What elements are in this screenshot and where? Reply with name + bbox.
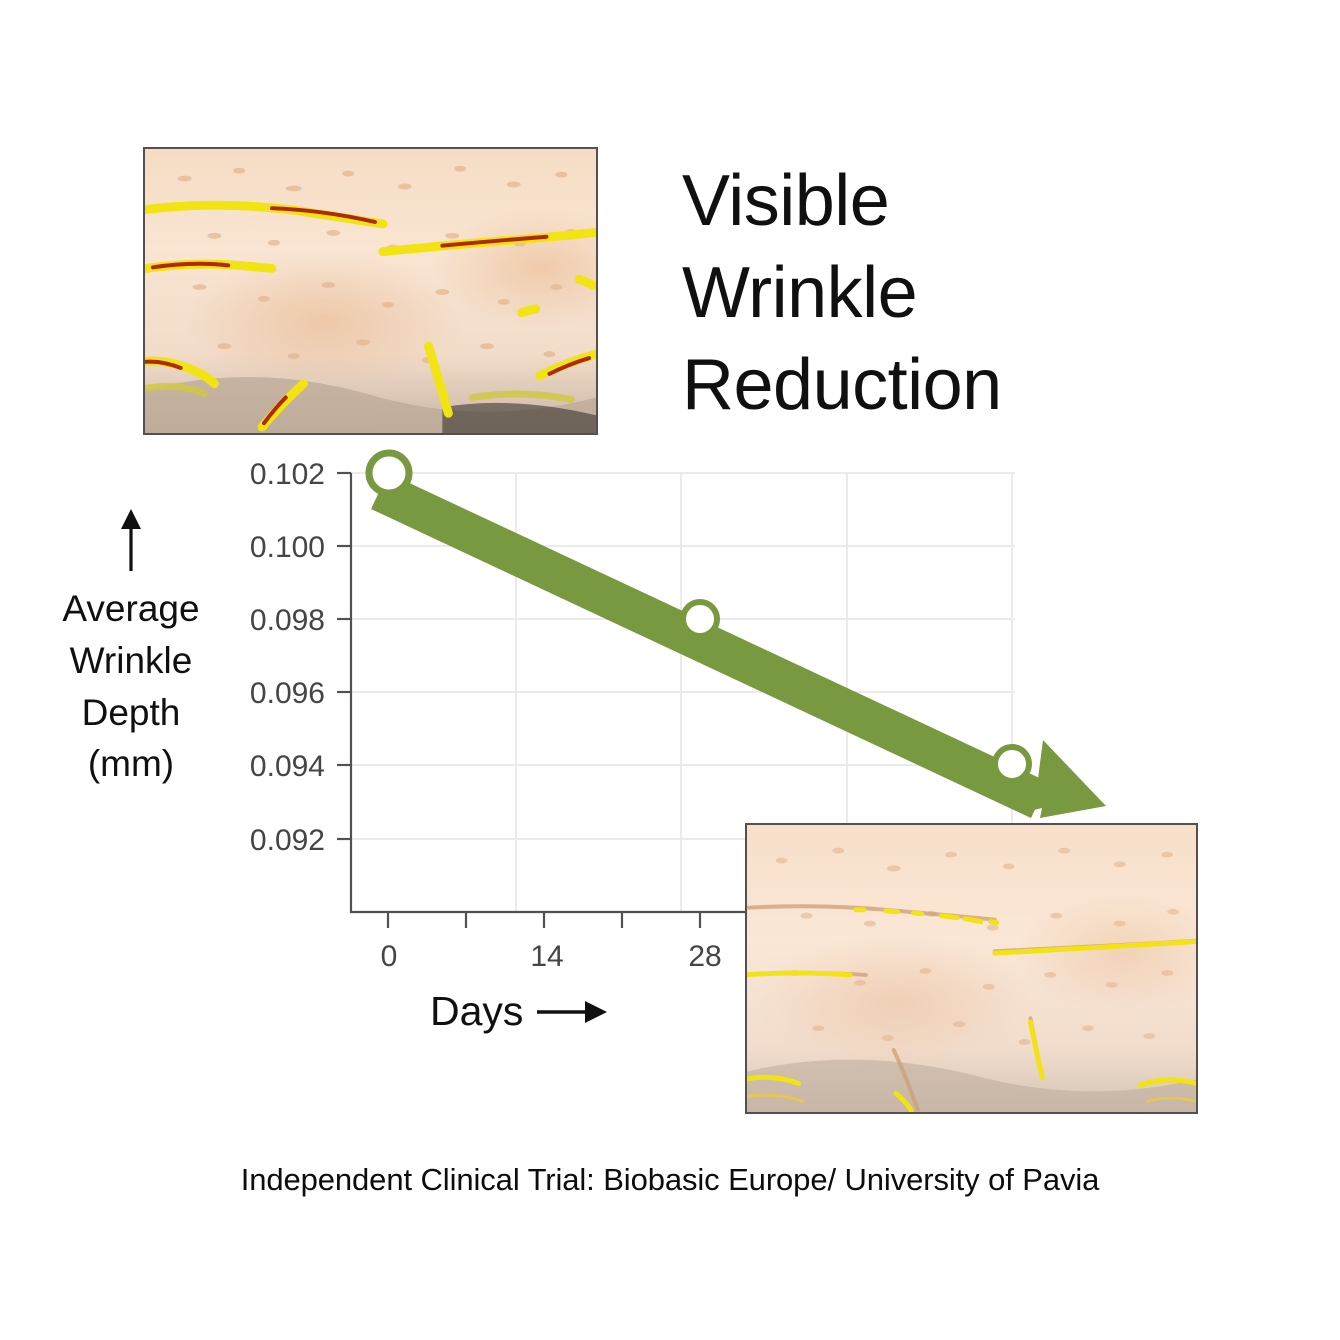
y-tick-0094: 0.094	[250, 750, 325, 783]
y-tick-0092: 0.092	[250, 824, 325, 857]
x-tick-28: 28	[688, 940, 721, 973]
x-tick-0: 0	[381, 940, 398, 973]
x-axis-label: Days	[430, 988, 523, 1035]
study-source-caption: Independent Clinical Trial: Biobasic Eur…	[0, 1162, 1340, 1198]
data-point-day-14	[683, 602, 717, 636]
y-axis-tick-labels: 0.102 0.100 0.098 0.096 0.094 0.092	[250, 458, 325, 857]
y-tick-0102: 0.102	[250, 458, 325, 491]
y-axis-label: Average Wrinkle Depth (mm)	[20, 583, 242, 790]
data-point-day-0	[369, 453, 409, 493]
wrinkle-depth-trend-arrow	[369, 453, 1106, 818]
after-treatment-skin-micrograph	[745, 823, 1198, 1114]
y-axis-up-arrow-icon	[20, 505, 242, 573]
x-axis-label-group: Days	[430, 988, 609, 1035]
x-axis-tick-labels: 0 14 28	[381, 940, 722, 973]
y-tick-0100: 0.100	[250, 531, 325, 564]
y-tick-0096: 0.096	[250, 677, 325, 710]
data-point-day-28	[995, 747, 1029, 781]
x-axis-right-arrow-icon	[537, 999, 609, 1025]
x-tick-14: 14	[530, 940, 563, 973]
page-title: Visible Wrinkle Reduction	[682, 155, 1112, 431]
y-tick-0098: 0.098	[250, 604, 325, 637]
before-treatment-skin-micrograph	[143, 147, 598, 435]
